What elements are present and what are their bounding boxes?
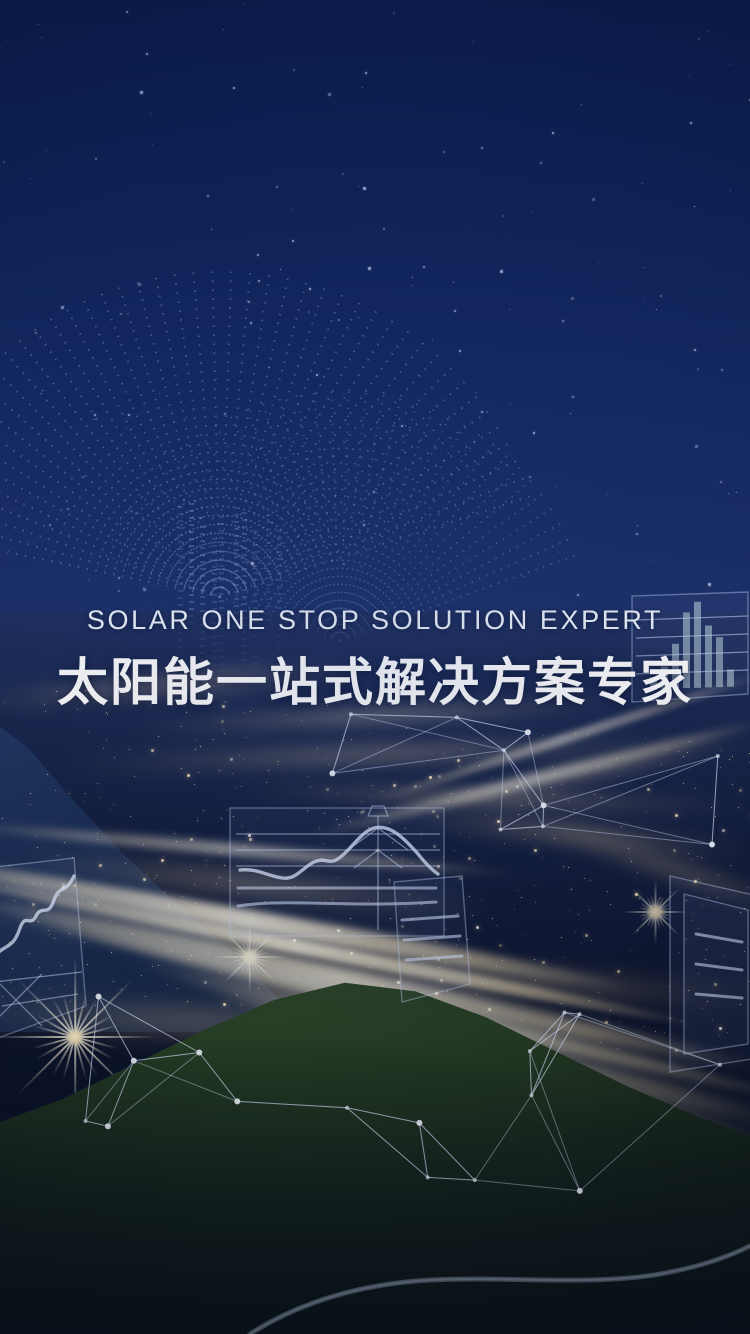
city-light-dot: [222, 729, 223, 730]
city-light-dot: [630, 950, 631, 951]
city-light-dot: [161, 859, 164, 862]
city-light-dot: [525, 934, 526, 935]
city-light-dot: [421, 834, 422, 835]
city-light-dot: [241, 786, 242, 787]
city-light-dot: [594, 794, 595, 795]
city-light-dot: [64, 984, 65, 985]
city-light-dot: [368, 900, 369, 901]
city-light-dot: [553, 807, 554, 808]
city-light-dot: [724, 955, 725, 956]
city-light-dot: [227, 809, 228, 810]
city-light-dot: [740, 912, 741, 913]
city-light-dot: [445, 929, 446, 930]
city-light-dot: [195, 749, 196, 750]
city-light-dot: [14, 900, 15, 901]
city-light-dot: [88, 731, 89, 732]
city-light-dot: [542, 961, 545, 964]
city-light-dot: [370, 796, 371, 797]
city-light-dot: [362, 770, 363, 771]
city-light-dot: [686, 900, 687, 901]
city-light-dot: [111, 952, 112, 953]
city-light-dot: [631, 861, 632, 862]
city-light-dot: [29, 953, 30, 954]
city-light-dot: [348, 816, 349, 817]
city-light-dot: [443, 856, 444, 857]
city-light-dot: [151, 749, 154, 752]
city-light-dot: [2, 996, 3, 997]
city-light-dot: [518, 814, 519, 815]
city-light-dot: [457, 759, 460, 762]
city-light-dot: [405, 906, 406, 907]
city-light-dot: [521, 805, 522, 806]
star-dot: [552, 132, 554, 134]
city-light-dot: [729, 759, 730, 760]
city-light-dot: [679, 952, 680, 953]
city-light-dot: [705, 959, 706, 960]
city-light-dot: [393, 784, 396, 787]
star-dot: [721, 369, 723, 371]
city-light-dot: [496, 925, 497, 926]
city-light-dot: [100, 797, 101, 798]
city-light-dot: [143, 878, 146, 881]
city-light-dot: [319, 828, 320, 829]
page-title: 太阳能一站式解决方案专家: [0, 652, 750, 714]
hero-banner: SOLAR ONE STOP SOLUTION EXPERT 太阳能一站式解决方…: [0, 0, 750, 1334]
city-light-dot: [469, 896, 470, 897]
city-light-dot: [238, 893, 239, 894]
star-dot: [211, 229, 212, 230]
city-light-dot: [39, 967, 40, 968]
city-light-dot: [720, 767, 721, 768]
city-light-dot: [702, 905, 703, 906]
city-light-dot: [95, 1005, 96, 1006]
star-dot: [606, 494, 607, 495]
star-dot: [257, 254, 259, 256]
city-light-dot: [578, 914, 579, 915]
star-dot: [393, 12, 395, 14]
city-light-dot: [698, 928, 699, 929]
city-light-dot: [436, 815, 439, 818]
city-light-dot: [730, 865, 731, 866]
city-light-dot: [37, 1002, 38, 1003]
night-city-landscape: [0, 612, 750, 1334]
city-light-dot: [534, 849, 537, 852]
city-light-dot: [156, 875, 157, 876]
star-dot: [598, 262, 599, 263]
star-dot: [698, 38, 700, 40]
city-light-dot: [282, 887, 283, 888]
city-light-dot: [206, 860, 207, 861]
star-dot: [30, 178, 31, 179]
city-light-dot: [382, 791, 383, 792]
star-dot: [0, 46, 1, 47]
city-light-dot: [196, 739, 197, 740]
city-light-dot: [286, 714, 287, 715]
city-light-dot: [719, 1027, 722, 1030]
city-light-dot: [740, 1004, 741, 1005]
city-light-dot: [10, 942, 11, 943]
city-light-dot: [664, 1032, 665, 1033]
city-light-dot: [158, 736, 159, 737]
city-light-dot: [235, 787, 236, 788]
city-light-dot: [37, 847, 38, 848]
star-dot: [358, 186, 359, 187]
city-light-dot: [30, 793, 31, 794]
star-dot: [642, 183, 643, 184]
city-light-dot: [601, 797, 602, 798]
city-light-dot: [278, 761, 279, 762]
city-light-dot: [257, 817, 258, 818]
city-light-dot: [317, 748, 318, 749]
city-light-dot: [607, 891, 608, 892]
star-dot: [443, 151, 445, 153]
city-light-dot: [686, 939, 687, 940]
city-light-dot: [277, 764, 278, 765]
city-light-dot: [675, 814, 678, 817]
city-light-dot: [221, 720, 224, 723]
city-light-dot: [457, 913, 458, 914]
city-light-dot: [294, 886, 295, 887]
city-light-dot: [203, 810, 204, 811]
city-light-dot: [661, 764, 662, 765]
city-light-dot: [584, 773, 585, 774]
star-dot: [453, 282, 454, 283]
city-light-dot: [691, 859, 692, 860]
city-light-dot: [421, 904, 422, 905]
city-light-dot: [174, 833, 175, 834]
city-light-dot: [469, 837, 470, 838]
city-light-dot: [721, 750, 722, 751]
city-light-dot: [715, 816, 716, 817]
city-light-dot: [561, 784, 562, 785]
city-light-dot: [581, 943, 582, 944]
city-light-dot: [591, 940, 592, 941]
city-light-dot: [177, 988, 178, 989]
city-light-dot: [47, 774, 48, 775]
city-light-dot: [433, 845, 436, 848]
city-light-dot: [467, 939, 468, 940]
city-light-dot: [307, 776, 308, 777]
city-light-dot: [528, 815, 529, 816]
city-light-dot: [57, 855, 58, 856]
city-light-dot: [232, 773, 233, 774]
city-light-dot: [372, 785, 373, 786]
city-light-dot: [154, 878, 155, 879]
city-light-dot: [107, 714, 108, 715]
city-light-dot: [714, 983, 717, 986]
city-light-dot: [219, 877, 220, 878]
city-light-dot: [712, 1019, 713, 1020]
star-dot: [46, 150, 47, 151]
city-light-dot: [187, 774, 190, 777]
city-light-dot: [692, 920, 693, 921]
city-light-dot: [328, 764, 329, 765]
city-light-dot: [130, 816, 131, 817]
city-light-dot: [249, 838, 252, 841]
star-dot: [730, 190, 731, 191]
star-dot: [383, 228, 385, 230]
city-light-dot: [739, 789, 742, 792]
city-light-dot: [458, 939, 459, 940]
star-dot: [280, 269, 281, 270]
star-dot: [500, 270, 503, 273]
city-light-dot: [619, 1021, 620, 1022]
city-light-dot: [307, 810, 308, 811]
city-light-dot: [683, 783, 684, 784]
city-light-dot: [389, 822, 390, 823]
city-light-dot: [69, 793, 70, 794]
city-light-dot: [732, 756, 733, 757]
city-light-dot: [224, 865, 225, 866]
city-light-dot: [54, 938, 55, 939]
star-dot: [412, 277, 413, 278]
city-light-dot: [697, 856, 698, 857]
city-light-dot: [187, 1001, 188, 1002]
city-light-dot: [646, 811, 647, 812]
city-light-dot: [655, 1031, 656, 1032]
city-light-dot: [584, 878, 585, 879]
star-dot: [694, 206, 695, 207]
city-light-dot: [223, 1003, 226, 1006]
star-dot: [309, 288, 311, 290]
city-light-dot: [389, 880, 390, 881]
city-light-dot: [436, 883, 437, 884]
city-light-dot: [305, 896, 306, 897]
city-light-dot: [647, 788, 650, 791]
city-light-dot: [48, 930, 49, 931]
city-light-dot: [164, 892, 165, 893]
city-light-dot: [97, 783, 98, 784]
city-light-dot: [239, 755, 240, 756]
city-light-dot: [55, 790, 56, 791]
city-light-dot: [717, 897, 718, 898]
city-light-dot: [288, 887, 289, 888]
city-light-dot: [687, 752, 688, 753]
city-light-dot: [543, 735, 544, 736]
city-light-dot: [477, 757, 478, 758]
city-light-dot: [361, 801, 362, 802]
star-dot: [636, 533, 638, 535]
star-dot: [365, 72, 367, 74]
city-light-dot: [103, 748, 104, 749]
city-light-dot: [727, 1032, 728, 1033]
city-light-dot: [569, 910, 570, 911]
star-dot: [412, 285, 413, 286]
city-light-dot: [563, 866, 564, 867]
star-dot: [126, 11, 128, 13]
city-light-dot: [420, 898, 421, 899]
city-light-dot: [194, 784, 195, 785]
star-dot: [362, 87, 363, 88]
star-dot: [469, 229, 470, 230]
city-light-dot: [233, 816, 234, 817]
city-light-dot: [64, 842, 65, 843]
city-light-dot: [528, 803, 529, 804]
star-dot: [581, 104, 582, 105]
star-dot: [697, 368, 699, 370]
city-light-dot: [337, 877, 338, 878]
city-light-dot: [670, 892, 671, 893]
city-light-dot: [485, 815, 486, 816]
city-light-dot: [474, 860, 475, 861]
city-light-dot: [706, 949, 707, 950]
city-light-dot: [134, 776, 135, 777]
city-light-dot: [645, 737, 646, 738]
city-light-dot: [732, 784, 733, 785]
star-dot: [473, 41, 474, 42]
city-light-dot: [700, 881, 701, 882]
city-light-dot: [242, 826, 243, 827]
city-light-dot: [310, 786, 311, 787]
city-light-dot: [219, 770, 220, 771]
city-light-dot: [561, 937, 562, 938]
city-light-dot: [698, 973, 699, 974]
city-light-dot: [571, 889, 572, 890]
city-light-dot: [678, 751, 679, 752]
city-light-dot: [693, 913, 694, 914]
city-light-dot: [357, 812, 358, 813]
city-light-dot: [125, 863, 126, 864]
star-dot: [38, 24, 39, 25]
star-dot: [644, 298, 645, 299]
city-light-dot: [351, 739, 352, 740]
city-light-dot: [738, 807, 739, 808]
city-light-dot: [32, 1000, 33, 1001]
star-dot: [207, 195, 209, 197]
city-light-dot: [376, 849, 379, 852]
star-dot: [656, 309, 657, 310]
city-light-dot: [673, 849, 676, 852]
city-light-dot: [406, 728, 407, 729]
star-dot: [243, 4, 244, 5]
city-light-dot: [87, 964, 88, 965]
city-light-dot: [713, 995, 714, 996]
star-dot: [152, 144, 153, 145]
city-light-dot: [504, 843, 505, 844]
city-light-dot: [574, 809, 575, 810]
city-light-dot: [535, 980, 536, 981]
city-light-dot: [644, 1026, 645, 1027]
city-light-dot: [106, 739, 107, 740]
city-light-dot: [628, 848, 629, 849]
city-light-dot: [167, 984, 168, 985]
city-light-dot: [460, 833, 461, 834]
city-light-dot: [698, 879, 699, 880]
city-light-dot: [618, 776, 619, 777]
city-light-dot: [206, 865, 207, 866]
city-light-dot: [368, 827, 369, 828]
city-light-dot: [589, 910, 590, 911]
city-light-dot: [568, 867, 569, 868]
city-light-dot: [551, 787, 552, 788]
star-dot: [728, 493, 729, 494]
star-dot: [653, 561, 654, 562]
city-light-dot: [30, 804, 31, 805]
star-dot: [95, 158, 97, 160]
city-light-dot: [216, 883, 217, 884]
star-dot: [708, 583, 711, 586]
city-light-dot: [343, 740, 344, 741]
city-light-dot: [401, 925, 404, 928]
star-dot: [146, 53, 148, 55]
city-light-dot: [110, 809, 111, 810]
city-light-dot: [230, 758, 233, 761]
city-light-dot: [722, 829, 725, 832]
city-light-dot: [590, 880, 591, 881]
city-light-dot: [409, 894, 410, 895]
star-dot: [276, 186, 278, 188]
city-light-dot: [181, 726, 182, 727]
city-light-dot: [553, 794, 554, 795]
star-dot: [736, 492, 737, 493]
city-light-dot: [9, 865, 10, 866]
city-light-dot: [49, 988, 50, 989]
city-light-dot: [702, 1008, 703, 1009]
city-light-dot: [268, 770, 269, 771]
star-dot: [531, 212, 532, 213]
city-light-dot: [391, 855, 392, 856]
city-light-dot: [432, 810, 435, 813]
city-light-dot: [244, 759, 245, 760]
city-light-dot: [323, 843, 324, 844]
city-light-dot: [554, 838, 555, 839]
star-dot: [637, 525, 638, 526]
city-light-dot: [324, 813, 325, 814]
city-light-dot: [610, 904, 611, 905]
city-light-dot: [182, 896, 183, 897]
city-light-dot: [744, 951, 745, 952]
star-dot: [540, 162, 542, 164]
star-dot: [292, 240, 294, 242]
city-light-dot: [695, 788, 696, 789]
star-dot: [293, 69, 295, 71]
city-light-dot: [476, 994, 477, 995]
city-light-dot: [412, 919, 413, 920]
city-light-dot: [468, 857, 471, 860]
city-light-dot: [145, 996, 146, 997]
city-light-dot: [84, 942, 85, 943]
star-dot: [690, 122, 692, 124]
city-light-dot: [708, 897, 709, 898]
city-light-dot: [637, 872, 638, 873]
city-light-dot: [336, 819, 337, 820]
city-light-dot: [747, 887, 748, 888]
star-dot: [223, 29, 224, 30]
city-light-dot: [246, 737, 247, 738]
city-light-dot: [325, 900, 326, 901]
city-light-dot: [200, 746, 201, 747]
city-light-dot: [497, 820, 500, 823]
star-dot: [363, 187, 366, 190]
city-light-dot: [585, 934, 588, 937]
city-light-dot: [326, 788, 329, 791]
city-light-dot: [711, 807, 712, 808]
city-light-dot: [332, 899, 333, 900]
city-light-dot: [454, 850, 455, 851]
hero-copy-block: SOLAR ONE STOP SOLUTION EXPERT 太阳能一站式解决方…: [0, 600, 750, 714]
star-dot: [695, 445, 698, 448]
star-dot: [689, 75, 690, 76]
city-light-dot: [688, 853, 689, 854]
city-light-dot: [405, 828, 406, 829]
city-light-dot: [491, 777, 492, 778]
star-dot: [3, 161, 5, 163]
city-light-dot: [83, 801, 84, 802]
star-dot: [291, 209, 292, 210]
city-light-dot: [198, 772, 199, 773]
city-light-dot: [542, 857, 543, 858]
star-dot: [423, 266, 425, 268]
